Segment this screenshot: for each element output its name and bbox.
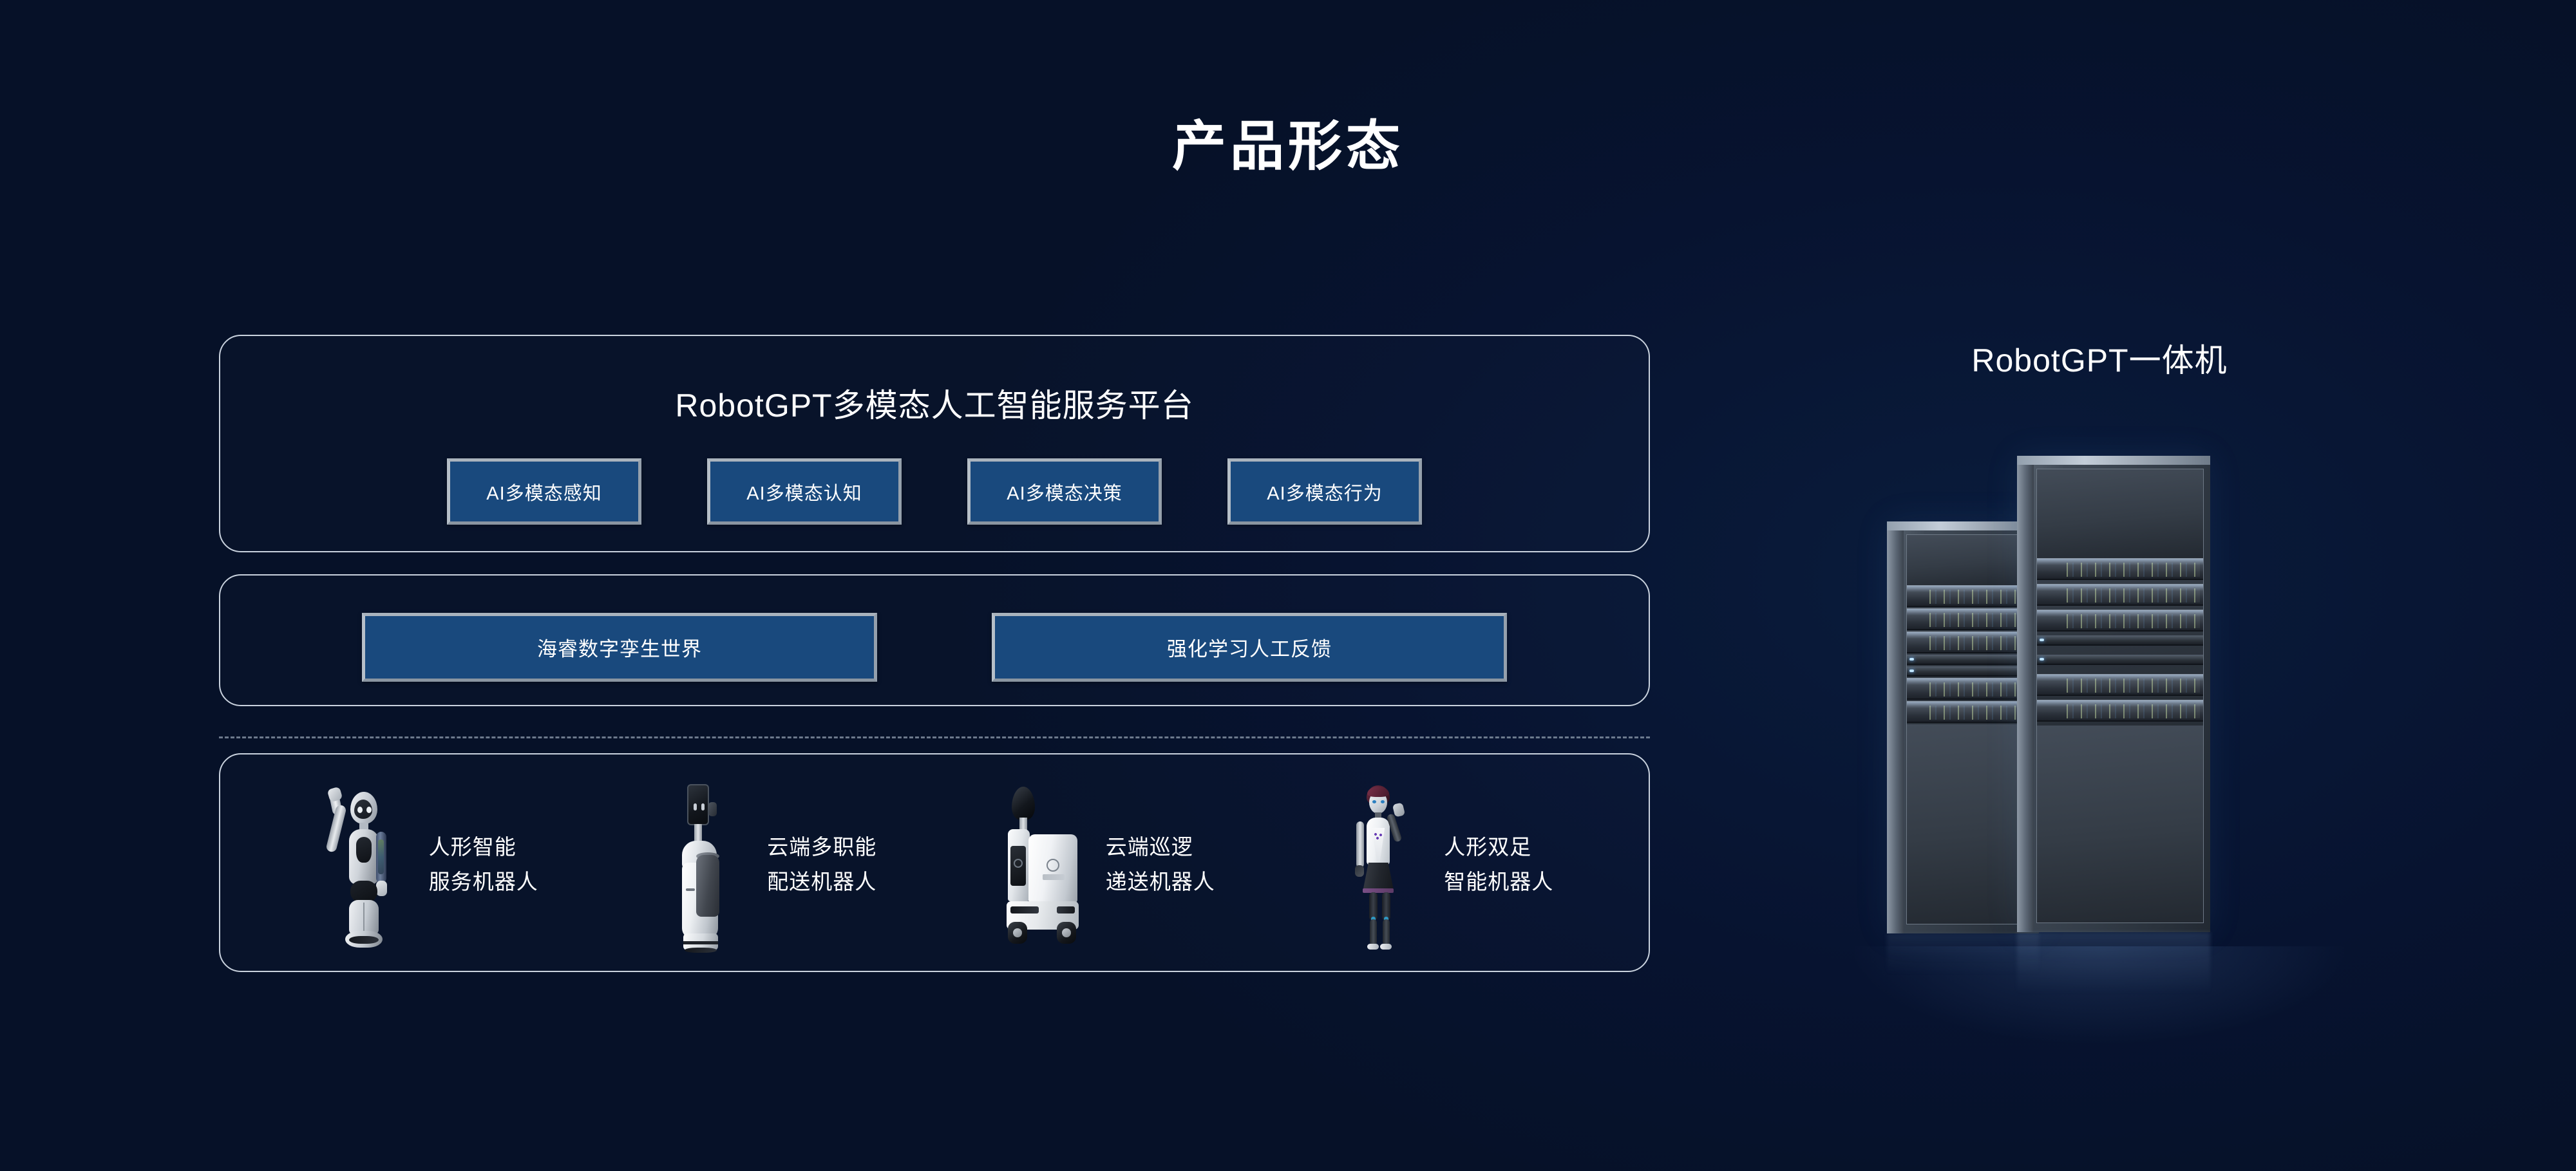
product-label-line2: 配送机器人 [767, 865, 876, 899]
biped-humanoid-robot-icon [1331, 778, 1427, 951]
appliance-block: RobotGPT一体机 [1880, 335, 2318, 1049]
cloud-delivery-robot-icon [654, 778, 750, 951]
server-rack-secondary [1887, 521, 2039, 933]
foundation-chip-label: 强化学习人工反馈 [1167, 633, 1332, 662]
capability-chip-row: AI多模态感知 AI多模态认知 AI多模态决策 AI多模态行为 [220, 458, 1649, 525]
capability-chip-label: AI多模态感知 [486, 478, 601, 505]
product-label-line1: 人形双足 [1444, 830, 1553, 865]
page-title-wrap: 产品形态 [992, 119, 1584, 173]
platform-title: RobotGPT多模态人工智能服务平台 [220, 380, 1649, 426]
product-label-line2: 递送机器人 [1106, 865, 1215, 899]
product-label: 云端多职能 配送机器人 [767, 830, 876, 900]
product-label-line1: 云端巡逻 [1106, 830, 1215, 865]
products-panel: 人形智能 服务机器人 [219, 753, 1650, 972]
appliance-title: RobotGPT一体机 [1880, 335, 2318, 381]
foundation-panel: 海睿数字孪生世界 强化学习人工反馈 [219, 574, 1650, 706]
foundation-chip-rlhf[interactable]: 强化学习人工反馈 [992, 613, 1507, 682]
product-label: 人形双足 智能机器人 [1444, 830, 1553, 900]
page-title: 产品形态 [992, 119, 1584, 173]
slide-canvas: 产品形态 RobotGPT多模态人工智能服务平台 AI多模态感知 AI多模态认知… [0, 0, 2576, 1171]
foundation-chip-digital-twin[interactable]: 海睿数字孪生世界 [362, 613, 877, 682]
foundation-chip-row: 海睿数字孪生世界 强化学习人工反馈 [220, 613, 1649, 682]
platform-architecture-block: RobotGPT多模态人工智能服务平台 AI多模态感知 AI多模态认知 AI多模… [219, 335, 1650, 972]
list-item[interactable]: 云端多职能 配送机器人 [596, 771, 935, 958]
product-label-line1: 云端多职能 [767, 830, 876, 865]
capability-chip-decision[interactable]: AI多模态决策 [967, 458, 1162, 525]
list-item[interactable]: 云端巡逻 递送机器人 [934, 771, 1273, 958]
product-label: 云端巡逻 递送机器人 [1106, 830, 1215, 900]
product-label-line2: 服务机器人 [429, 865, 538, 899]
product-label-line2: 智能机器人 [1444, 865, 1553, 899]
server-rack-primary [2017, 456, 2210, 932]
capability-chip-behavior[interactable]: AI多模态行为 [1227, 458, 1422, 525]
foundation-chip-label: 海睿数字孪生世界 [537, 633, 702, 662]
list-item[interactable]: 人形智能 服务机器人 [258, 771, 596, 958]
product-label-line1: 人形智能 [429, 830, 538, 865]
server-rack-icon [1880, 418, 2318, 998]
capability-chip-label: AI多模态行为 [1267, 478, 1382, 505]
section-divider [219, 736, 1650, 738]
capability-chip-cognition[interactable]: AI多模态认知 [707, 458, 902, 525]
rack-glow [1855, 946, 2344, 1043]
platform-panel: RobotGPT多模态人工智能服务平台 AI多模态感知 AI多模态认知 AI多模… [219, 335, 1650, 552]
product-label: 人形智能 服务机器人 [429, 830, 538, 900]
capability-chip-label: AI多模态认知 [746, 478, 862, 505]
capability-chip-perception[interactable]: AI多模态感知 [447, 458, 641, 525]
capability-chip-label: AI多模态决策 [1007, 478, 1122, 505]
cloud-patrol-robot-icon [992, 778, 1089, 951]
list-item[interactable]: 人形双足 智能机器人 [1273, 771, 1612, 958]
product-list: 人形智能 服务机器人 [258, 771, 1611, 958]
humanoid-service-robot-icon [316, 778, 412, 951]
